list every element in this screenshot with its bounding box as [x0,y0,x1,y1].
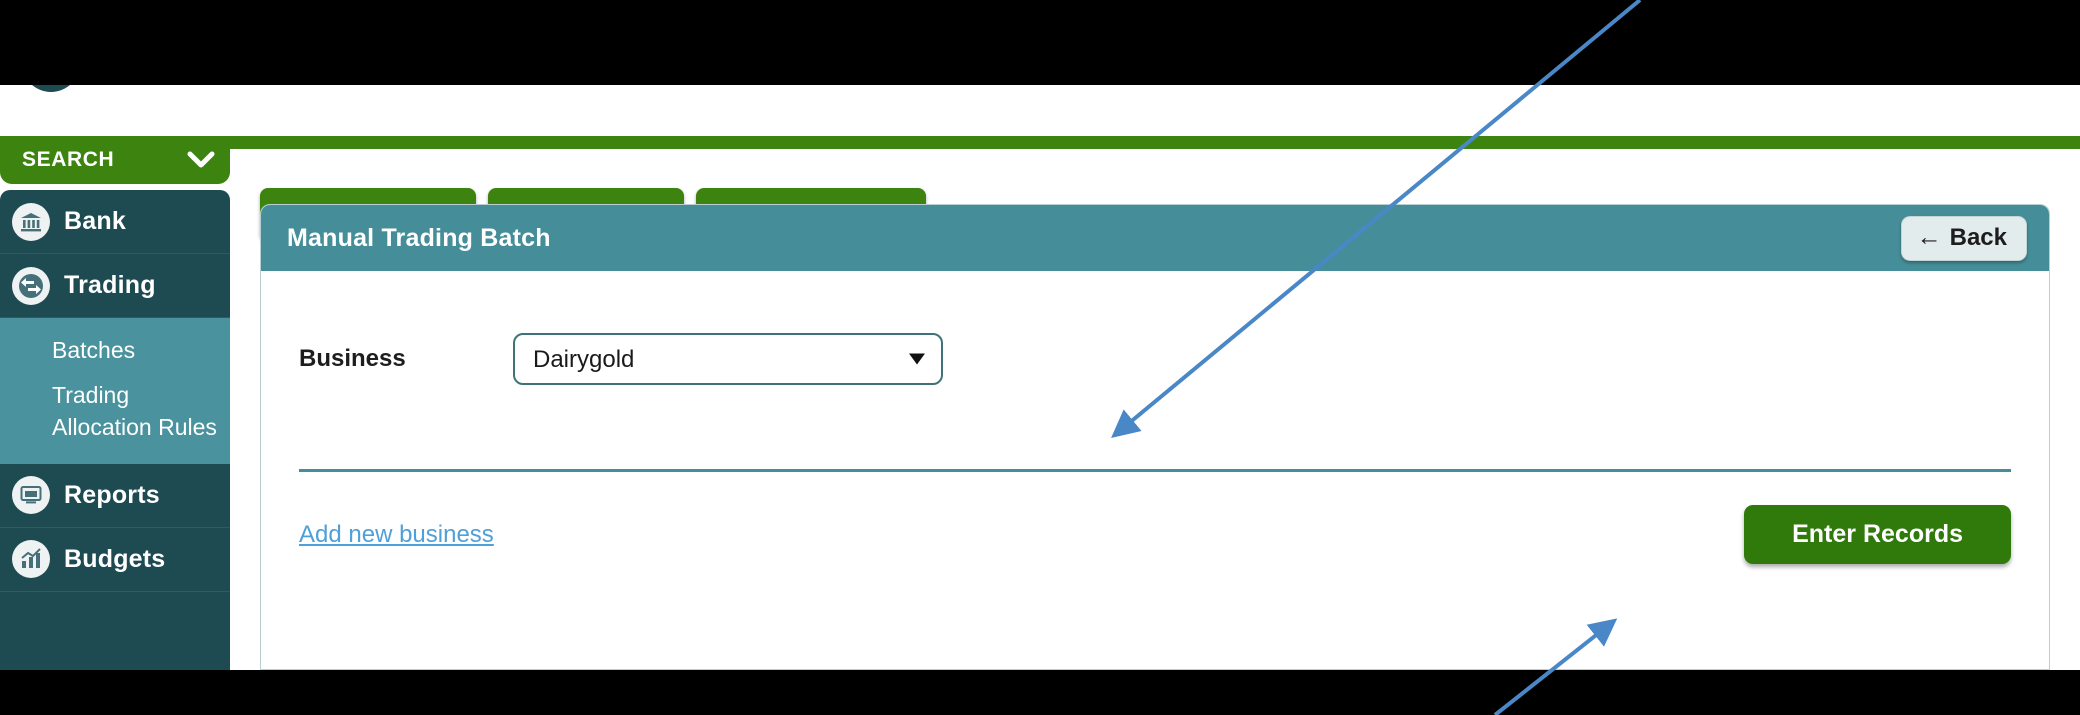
sidebar-item-label: Budgets [64,545,165,574]
letterbox-bottom-bar [0,670,2080,715]
sidebar-item-label: Trading [64,271,156,300]
sidebar-submenu-trading: Batches Trading Allocation Rules [0,318,230,464]
bank-icon [12,203,50,241]
section-divider [299,469,2011,472]
business-select-wrapper: Dairygold [513,333,943,385]
panel-body: Business Dairygold Add new business Ente… [261,271,2049,671]
add-new-business-link[interactable]: Add new business [299,521,494,549]
report-monitor-icon [12,476,50,514]
panel-footer-row: Add new business Enter Records [299,505,2011,564]
sidebar-item-budgets[interactable]: Budgets [0,528,230,592]
exchange-arrows-icon [12,267,50,305]
sidebar-item-label: Bank [64,207,126,236]
manual-trading-batch-panel: Manual Trading Batch ← Back Business Dai… [260,204,2050,670]
app-page: SEARCH Bank [0,0,2080,715]
business-label: Business [299,345,513,373]
main-content: New from File New Manual Enter Discount … [230,149,2080,670]
business-select[interactable]: Dairygold [513,333,943,385]
budget-chart-icon [12,540,50,578]
sidebar-subitem-batches[interactable]: Batches [0,328,230,373]
panel-header: Manual Trading Batch ← Back [261,205,2049,271]
sidebar-item-label: Reports [64,481,160,510]
enter-records-button[interactable]: Enter Records [1744,505,2011,564]
business-field-row: Business Dairygold [299,271,2011,385]
sidebar-search-header[interactable]: SEARCH [0,136,230,184]
sidebar-item-trading[interactable]: Trading [0,254,230,318]
sidebar-item-reports[interactable]: Reports [0,464,230,528]
back-button-label: Back [1950,224,2007,252]
sidebar-search-label: SEARCH [22,148,114,172]
top-green-divider [0,136,2080,149]
arrow-left-icon: ← [1917,225,1942,250]
sidebar-subitem-trading-allocation-rules[interactable]: Trading Allocation Rules [0,373,230,450]
back-button[interactable]: ← Back [1901,216,2027,261]
sidebar: Bank Trading Batches Trading Allocation … [0,190,230,670]
sidebar-item-bank[interactable]: Bank [0,190,230,254]
panel-title: Manual Trading Batch [287,224,551,253]
letterbox-top-bar [0,0,2080,85]
